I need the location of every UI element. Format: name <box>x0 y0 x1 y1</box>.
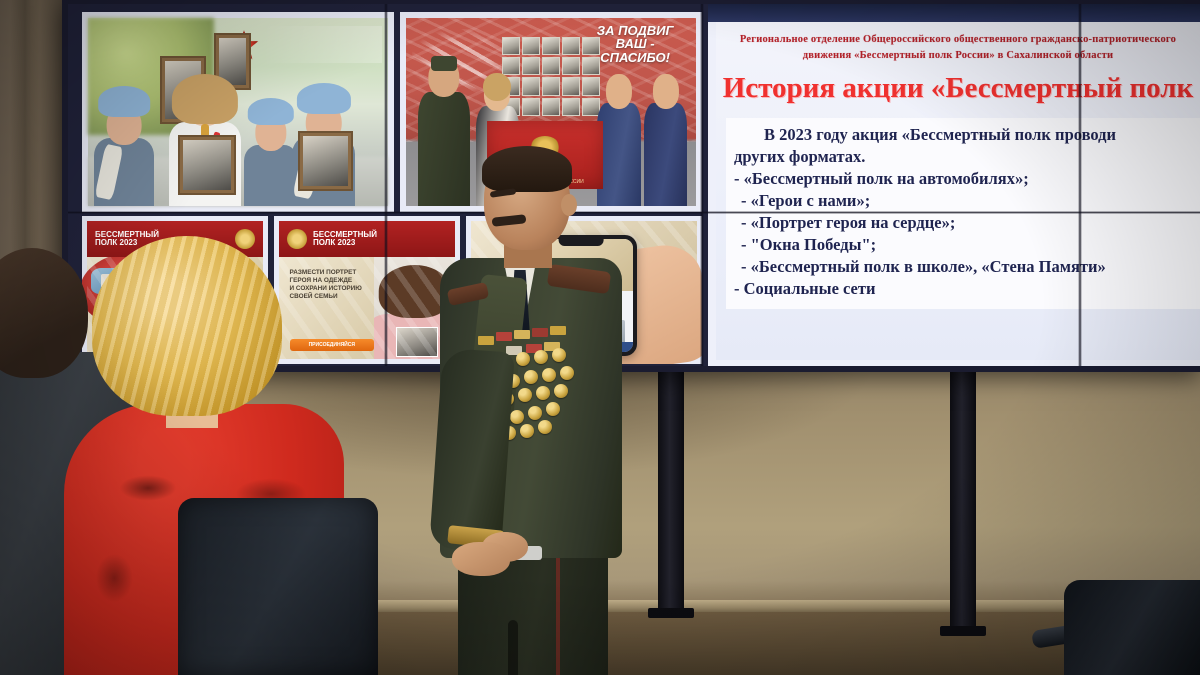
chair-front-row <box>178 498 378 675</box>
ceremony-headline: ЗА ПОДВИГ ВАШ - СПАСИБО! <box>577 24 693 65</box>
photo-banner-overlay <box>262 26 382 64</box>
portrait-frame-held <box>298 131 353 191</box>
slide-bullet: - «Портрет героя на сердце»; <box>734 212 1192 234</box>
slide-top-band <box>708 4 1200 22</box>
slide-bullet: - "Окна Победы"; <box>734 234 1192 256</box>
screen-stand-leg-right <box>950 370 976 628</box>
slide-content: Региональное отделение Общероссийского о… <box>716 22 1200 360</box>
ribbon-bar <box>478 336 494 345</box>
medal <box>534 350 548 364</box>
slide-header-line1: Региональное отделение Общероссийского о… <box>734 32 1182 48</box>
trouser-gap-shadow <box>508 620 518 675</box>
medal <box>524 370 538 384</box>
medal <box>546 402 560 416</box>
medal <box>554 384 568 398</box>
medal <box>536 386 550 400</box>
chair-right <box>1064 580 1200 675</box>
cadet-figure <box>94 89 154 206</box>
medal <box>560 366 574 380</box>
presentation-slide: Региональное отделение Общероссийского о… <box>708 4 1200 366</box>
slide-title: История акции «Бессмертный полк <box>716 72 1200 104</box>
ceremony-headline-line2: ВАШ - <box>577 37 693 51</box>
medal <box>518 388 532 402</box>
presenter-arm <box>429 348 515 553</box>
ribbon-bar <box>532 328 548 337</box>
panel-photo-cadets <box>82 12 394 212</box>
screen-stand-foot-left <box>648 608 694 618</box>
presenter-ear <box>561 194 577 216</box>
man-figure <box>644 74 688 206</box>
medal <box>516 352 530 366</box>
panel-slide: Региональное отделение Общероссийского о… <box>708 4 1200 366</box>
slide-header: Региональное отделение Общероссийского о… <box>734 32 1182 64</box>
slide-paragraph: В 2023 году акция «Бессмертный полк пров… <box>734 124 1192 146</box>
ribbon-bar <box>496 332 512 341</box>
cadet-figure <box>244 101 298 206</box>
ribbon-bar <box>550 326 566 335</box>
medal <box>528 406 542 420</box>
medal <box>510 410 524 424</box>
screen-stand-foot-right <box>940 626 986 636</box>
screen-stand-leg-left <box>658 370 684 610</box>
phone-notch <box>559 239 604 246</box>
medal <box>538 420 552 434</box>
panel-seam-vertical <box>384 4 388 366</box>
slide-paragraph-cont: других форматах. <box>734 146 1192 168</box>
medal <box>552 348 566 362</box>
panel-seam-vertical <box>1078 4 1082 366</box>
presenter-hair <box>482 146 572 192</box>
presenter-hand <box>452 542 510 576</box>
slide-bullet: - Социальные сети <box>734 278 1192 300</box>
slide-header-line2: движения «Бессмертный полк России» в Сах… <box>734 48 1182 64</box>
presentation-room-photo: ЗА ПОДВИГ ВАШ - СПАСИБО! <box>0 0 1200 675</box>
ceremony-headline-line3: СПАСИБО! <box>577 51 693 65</box>
photo-cadets <box>88 18 388 206</box>
presenter <box>430 150 630 675</box>
ribbon-bar <box>514 330 530 339</box>
ceremony-headline-line1: ЗА ПОДВИГ <box>577 24 693 38</box>
slide-bullet: - «Бессмертный полк в школе», «Стена Пам… <box>734 256 1192 278</box>
trouser-stripe <box>556 550 560 675</box>
medal <box>520 424 534 438</box>
medal <box>542 368 556 382</box>
panel-seam-vertical <box>700 4 704 366</box>
slide-bullet: - «Бессмертный полк на автомобилях»; <box>734 168 1192 190</box>
slide-bullet: - «Герои с нами»; <box>734 190 1192 212</box>
panel-seam-horizontal <box>68 211 1200 214</box>
portrait-frame-held <box>178 135 236 195</box>
